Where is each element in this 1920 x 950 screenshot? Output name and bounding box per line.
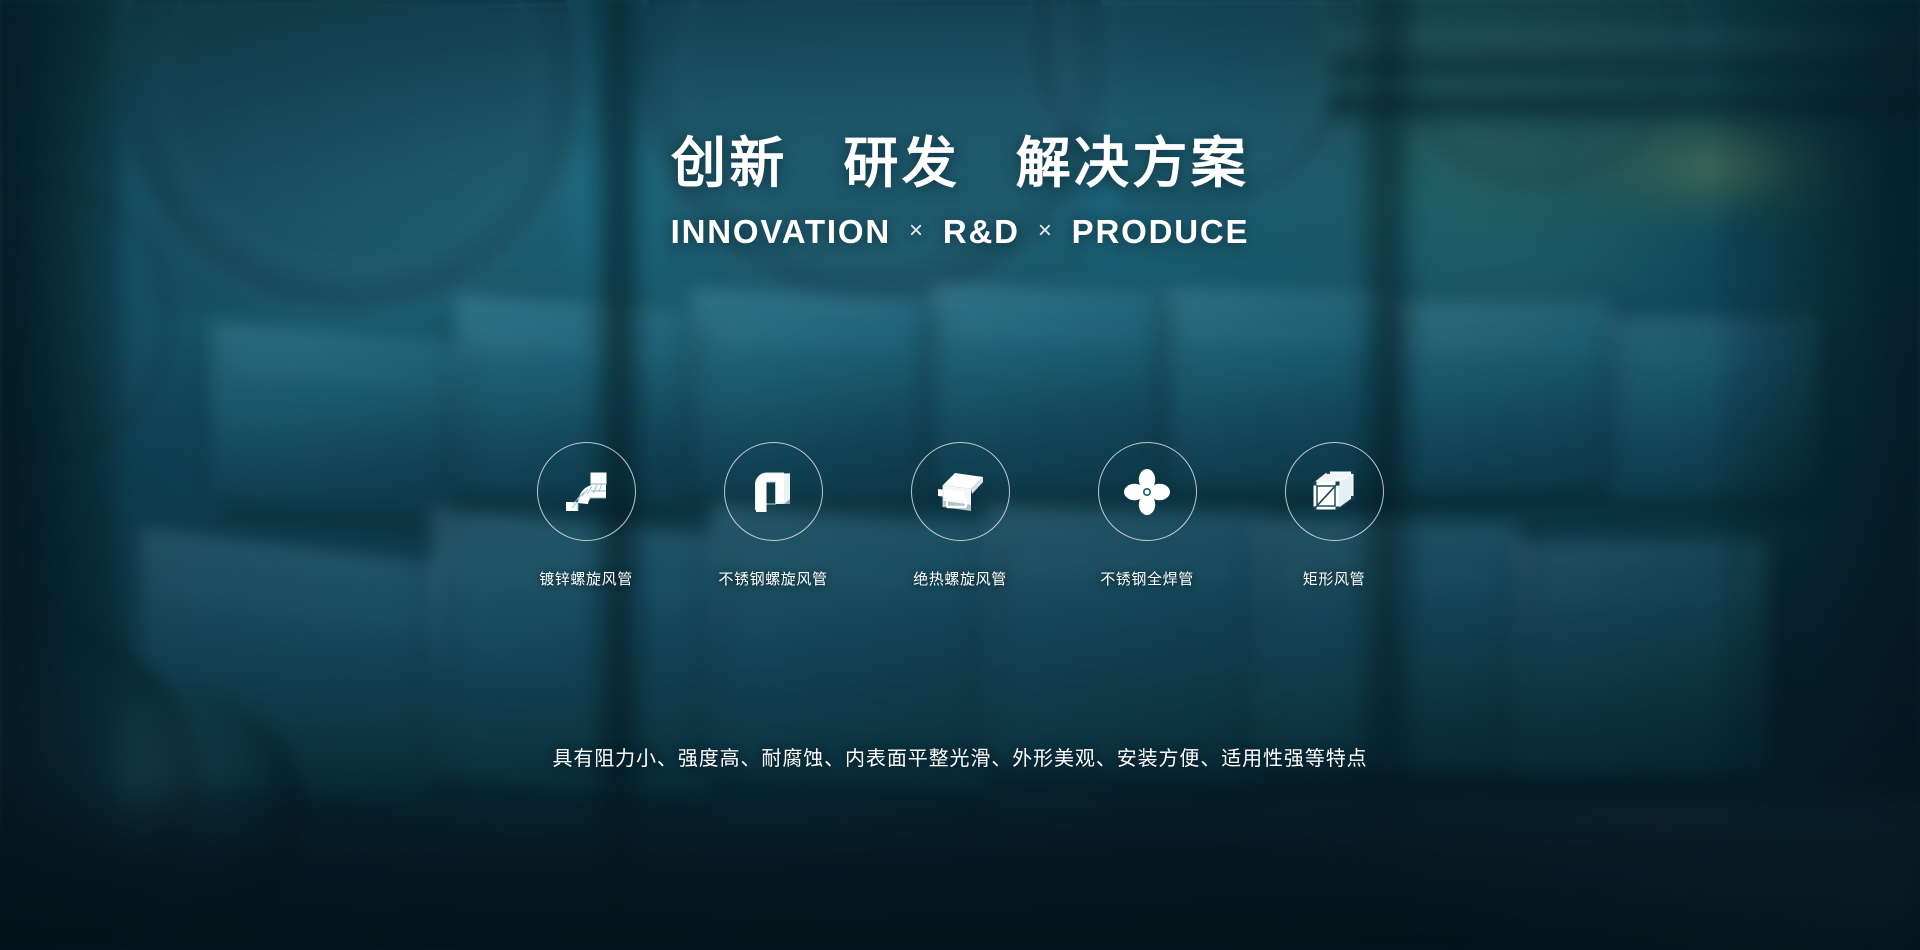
product-item-rectangular-duct[interactable]: 矩形风管 [1282, 442, 1387, 589]
product-label: 矩形风管 [1303, 568, 1365, 589]
headline: 创新 研发 解决方案 [0, 133, 1920, 195]
subheadline: INNOVATION × R&D × PRODUCE [0, 213, 1920, 251]
product-icon-row: 镀锌螺旋风管 [0, 442, 1920, 589]
product-label: 不锈钢全焊管 [1100, 568, 1194, 589]
product-label: 不锈钢螺旋风管 [718, 568, 827, 589]
insulated-duct-icon [931, 467, 989, 517]
subheadline-separator-icon: × [1038, 217, 1054, 245]
product-item-galvanized-spiral-duct[interactable]: 镀锌螺旋风管 [534, 442, 639, 589]
fan-blade-icon [1122, 467, 1172, 517]
icon-circle[interactable] [537, 442, 636, 541]
subheadline-word-rd: R&D [943, 213, 1020, 251]
product-item-stainless-welded-pipe[interactable]: 不锈钢全焊管 [1095, 442, 1200, 589]
banner-content: 创新 研发 解决方案 INNOVATION × R&D × PRODUCE [0, 0, 1920, 950]
subheadline-word-innovation: INNOVATION [671, 213, 891, 251]
subheadline-separator-icon: × [909, 217, 925, 245]
banner-stage: 创新 研发 解决方案 INNOVATION × R&D × PRODUCE [0, 0, 1920, 950]
icon-circle[interactable] [1098, 442, 1197, 541]
product-item-stainless-spiral-duct[interactable]: 不锈钢螺旋风管 [721, 442, 826, 589]
square-elbow-duct-icon [747, 466, 799, 518]
icon-circle[interactable] [911, 442, 1010, 541]
spiral-duct-elbow-icon [558, 464, 614, 520]
rectangular-duct-icon [1308, 467, 1360, 517]
product-label: 镀锌螺旋风管 [539, 568, 633, 589]
product-label: 绝热螺旋风管 [913, 568, 1007, 589]
icon-circle[interactable] [1285, 442, 1384, 541]
feature-caption: 具有阻力小、强度高、耐腐蚀、内表面平整光滑、外形美观、安装方便、适用性强等特点 [0, 742, 1920, 771]
subheadline-word-produce: PRODUCE [1072, 213, 1250, 251]
product-item-insulated-spiral-duct[interactable]: 绝热螺旋风管 [908, 442, 1013, 589]
icon-circle[interactable] [724, 442, 823, 541]
